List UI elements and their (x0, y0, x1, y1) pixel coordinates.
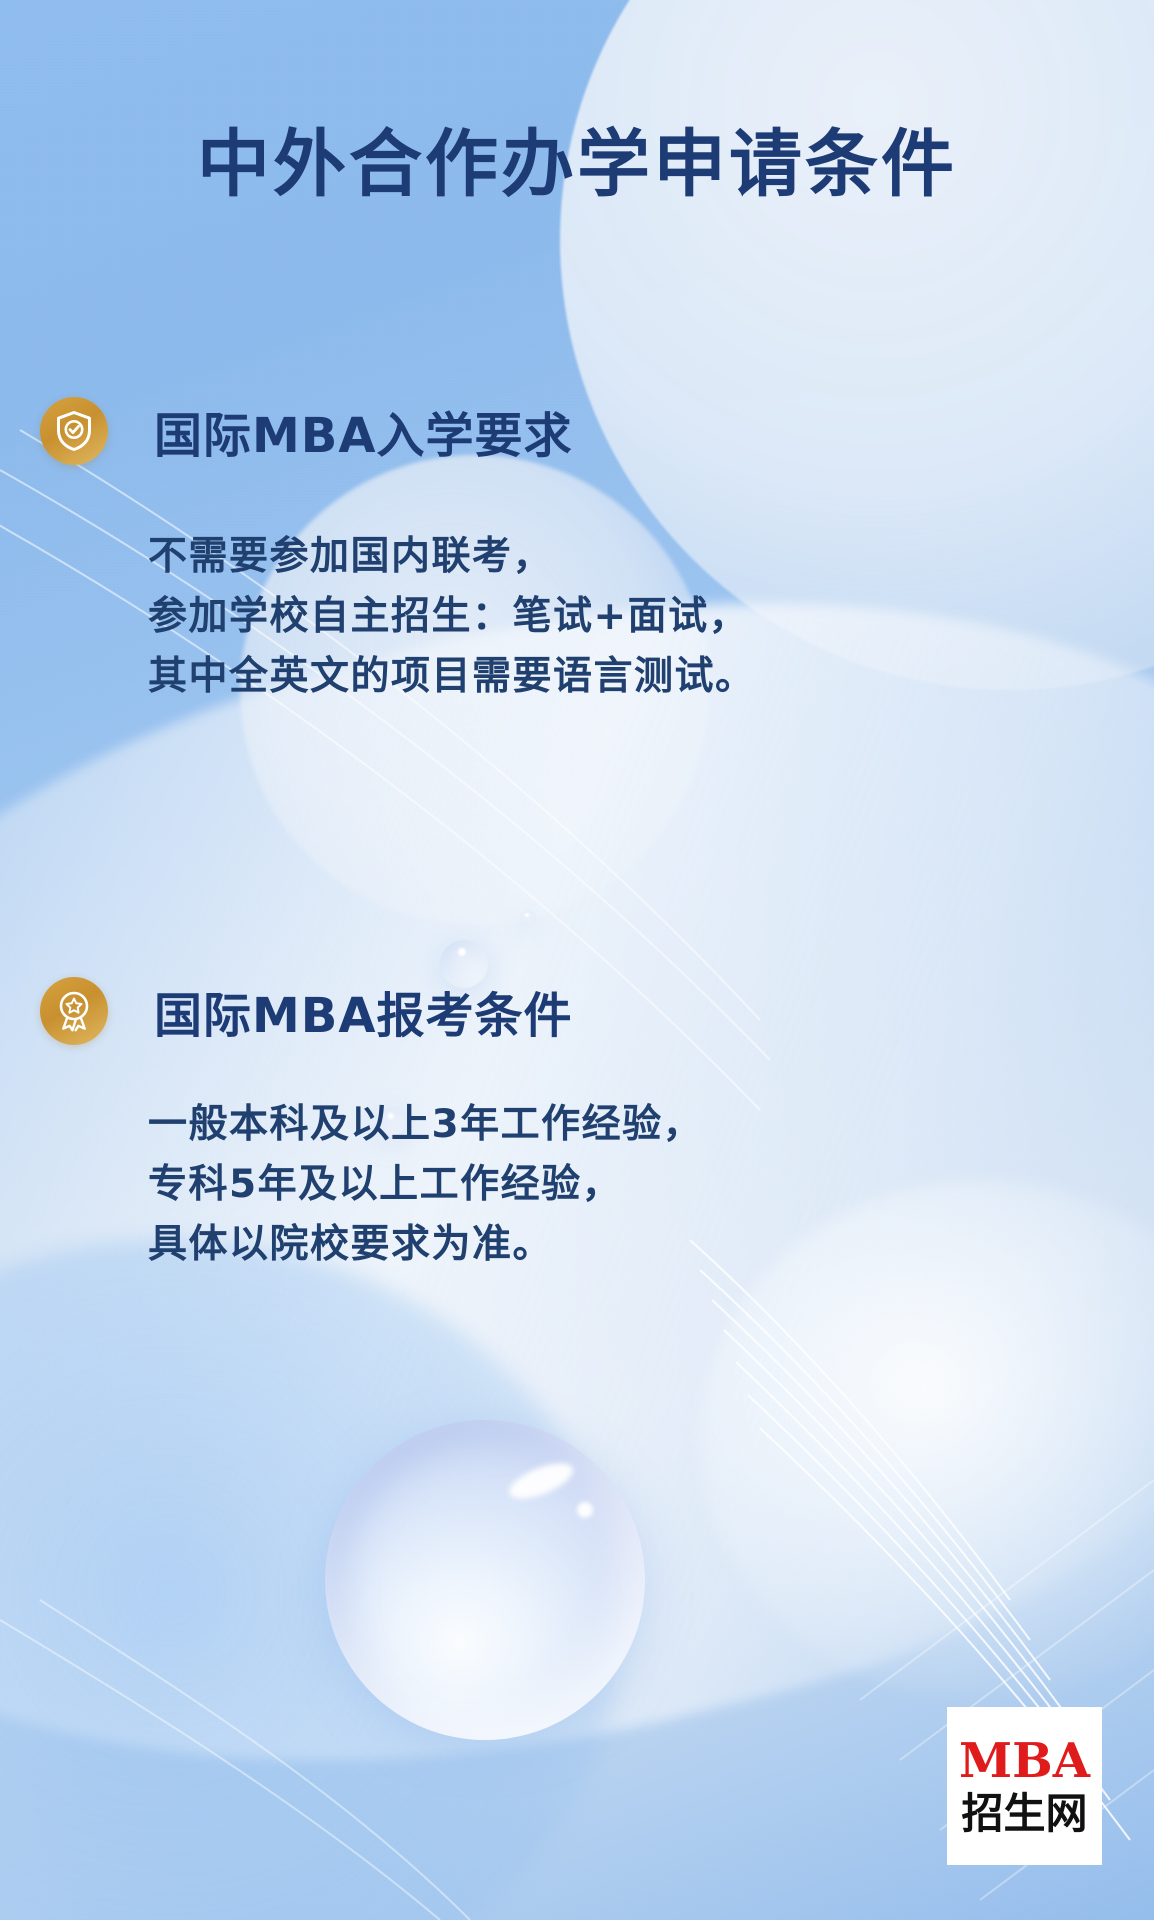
section-entry-requirements: 国际MBA入学要求 不需要参加国内联考， 参加学校自主招生：笔试+面试， 其中全… (0, 395, 1154, 707)
body-line: 参加学校自主招生：笔试+面试， (148, 587, 1154, 647)
section-heading: 国际MBA报考条件 (154, 976, 573, 1046)
section-heading: 国际MBA入学要求 (154, 396, 573, 466)
logo-primary-text: MBA (959, 1737, 1090, 1785)
award-medal-icon (40, 977, 108, 1045)
section-body: 一般本科及以上3年工作经验， 专科5年及以上工作经验， 具体以院校要求为准。 (0, 1095, 1154, 1275)
section-application-conditions: 国际MBA报考条件 一般本科及以上3年工作经验， 专科5年及以上工作经验， 具体… (0, 975, 1154, 1275)
body-line: 具体以院校要求为准。 (148, 1215, 1154, 1275)
logo-secondary-text: 招生网 (961, 1793, 1087, 1835)
body-line: 一般本科及以上3年工作经验， (148, 1095, 1154, 1155)
body-line: 不需要参加国内联考， (148, 527, 1154, 587)
poster-content: 中外合作办学申请条件 国际MBA入学要求 不需要参加国内联考， 参加学校自主招生… (0, 0, 1154, 1920)
shield-check-icon (40, 397, 108, 465)
section-header: 国际MBA报考条件 (0, 975, 1154, 1047)
section-body: 不需要参加国内联考， 参加学校自主招生：笔试+面试， 其中全英文的项目需要语言测… (0, 527, 1154, 707)
section-header: 国际MBA入学要求 (0, 395, 1154, 467)
page-title: 中外合作办学申请条件 (0, 128, 1154, 201)
body-line: 专科5年及以上工作经验， (148, 1155, 1154, 1215)
brand-logo: MBA 招生网 (947, 1707, 1102, 1865)
body-line: 其中全英文的项目需要语言测试。 (148, 647, 1154, 707)
poster-canvas: 中外合作办学申请条件 国际MBA入学要求 不需要参加国内联考， 参加学校自主招生… (0, 0, 1154, 1920)
